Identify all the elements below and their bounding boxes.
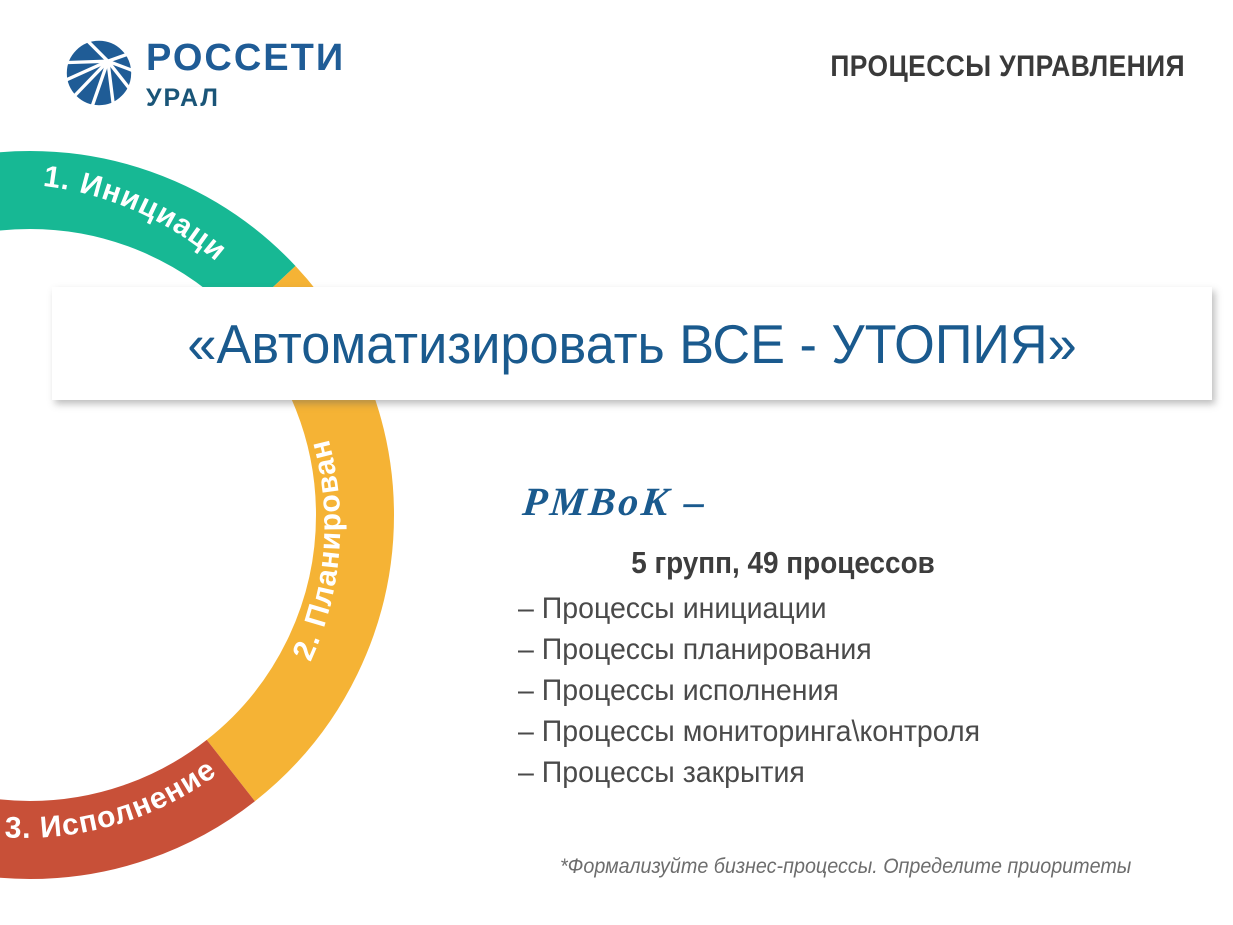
footnote-text: *Формализуйте бизнес-процессы. Определит… <box>560 855 1131 879</box>
groups-count-text: 5 групп, 49 процессов <box>549 545 1017 581</box>
pmbok-heading: PMBoK – <box>521 478 710 525</box>
logo-brand-text: РОССЕТИ <box>146 38 345 78</box>
process-group-list: – Процессы инициации – Процессы планиров… <box>518 588 1158 793</box>
process-cycle-ring: 1. Инициация 2. Планирование 3. Исполнен… <box>0 145 400 885</box>
list-item: – Процессы планирования <box>518 629 1126 670</box>
logo-wordmark: РОССЕТИ УРАЛ <box>146 38 345 113</box>
list-item: – Процессы исполнения <box>518 670 1126 711</box>
slide-canvas: 1. Инициация 2. Планирование 3. Исполнен… <box>0 0 1233 925</box>
list-item: – Процессы мониторинга\контроля <box>518 711 1126 752</box>
brand-logo: РОССЕТИ УРАЛ <box>62 33 362 123</box>
headline-banner: «Автоматизировать ВСЕ - УТОПИЯ» <box>52 287 1212 400</box>
headline-text: «Автоматизировать ВСЕ - УТОПИЯ» <box>187 312 1076 376</box>
ring-svg: 1. Инициация 2. Планирование 3. Исполнен… <box>0 145 400 885</box>
logo-division-text: УРАЛ <box>146 83 345 113</box>
list-item: – Процессы закрытия <box>518 752 1126 793</box>
page-title: ПРОЦЕССЫ УПРАВЛЕНИЯ <box>830 50 1185 84</box>
rosseti-sunburst-icon <box>62 36 136 110</box>
list-item: – Процессы инициации <box>518 588 1126 629</box>
